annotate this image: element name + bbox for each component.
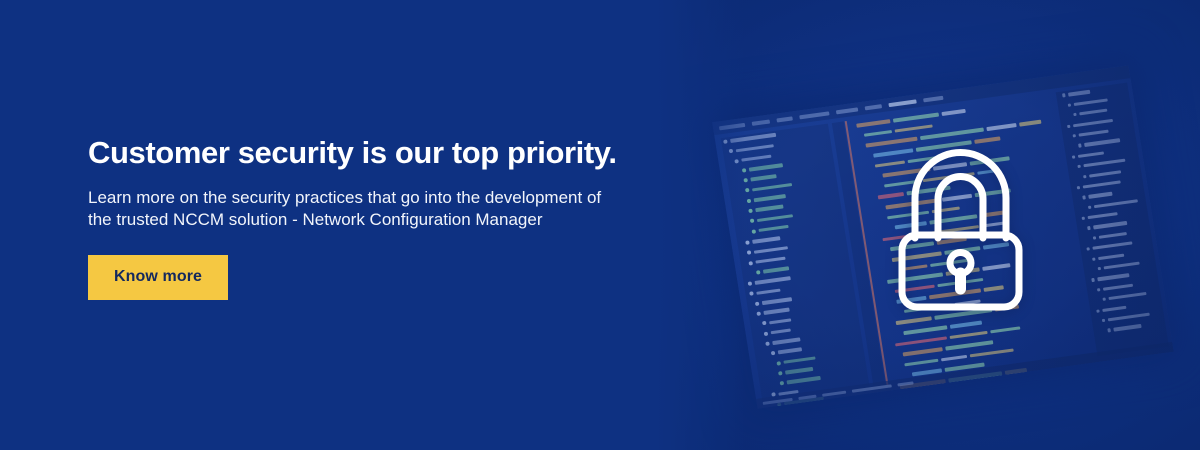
banner-subtext: Learn more on the security practices tha… xyxy=(88,187,668,231)
know-more-button[interactable]: Know more xyxy=(88,255,228,300)
banner-content: Customer security is our top priority. L… xyxy=(88,0,668,300)
hero-image-panel xyxy=(655,0,1200,450)
security-promo-banner: Customer security is our top priority. L… xyxy=(0,0,1200,450)
image-left-feather xyxy=(655,0,745,450)
page-title: Customer security is our top priority. xyxy=(88,136,668,170)
padlock-icon xyxy=(893,143,1028,313)
